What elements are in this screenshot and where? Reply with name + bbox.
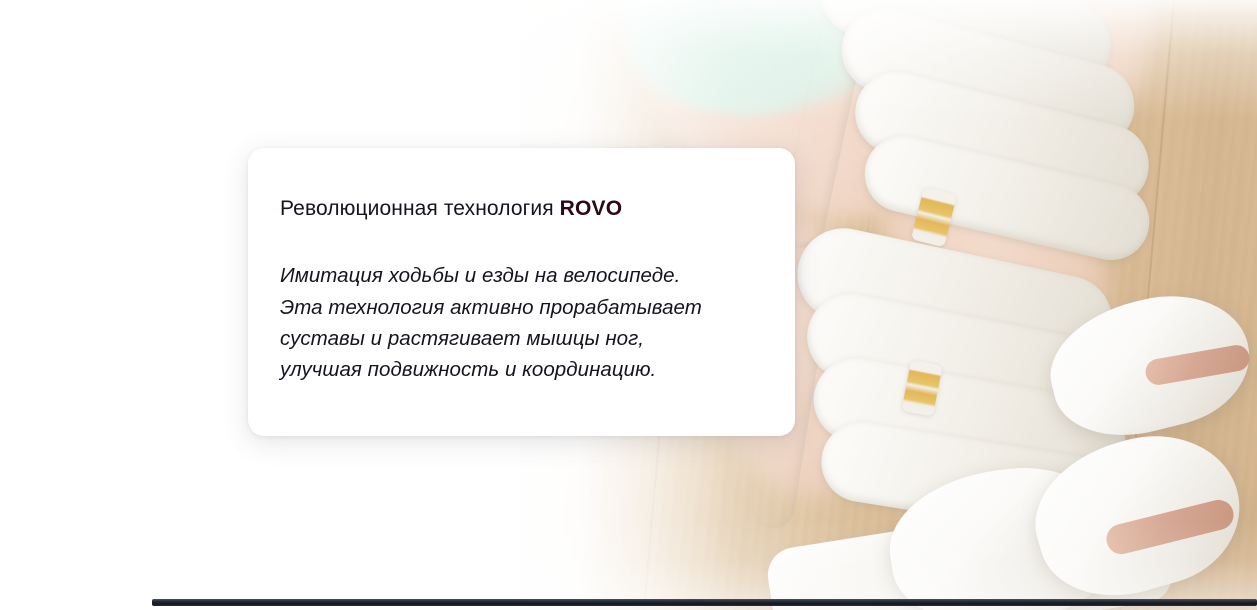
- card-body-line: улучшая подвижность и координацию.: [280, 354, 755, 385]
- card-body-text: Имитация ходьбы и езды на велосипеде. Эт…: [280, 260, 755, 385]
- card-body-line: Имитация ходьбы и езды на велосипеде.: [280, 260, 755, 291]
- card-heading: Революционная технология ROVO: [280, 196, 755, 222]
- promo-slide: Революционная технология ROVO Имитация х…: [0, 0, 1257, 610]
- card-body-line: суставы и растягивает мышцы ног,: [280, 323, 755, 354]
- technology-description-card: Революционная технология ROVO Имитация х…: [248, 148, 795, 436]
- card-heading-prefix: Революционная технология: [280, 197, 560, 220]
- horizontal-scrollbar[interactable]: [152, 599, 1257, 606]
- brand-name-rovo: ROVO: [560, 197, 623, 220]
- card-body-line: Эта технология активно прорабатывает: [280, 292, 755, 323]
